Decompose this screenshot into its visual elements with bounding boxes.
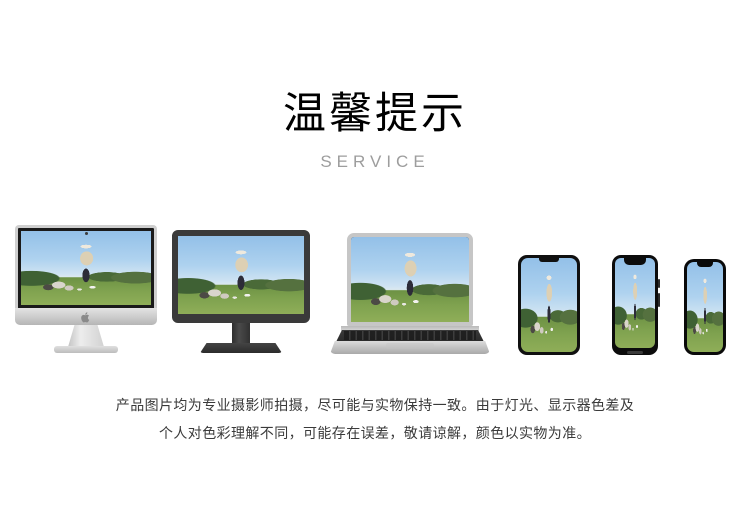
tablet-notch: [539, 258, 559, 262]
service-notice-page: 温馨提示 SERVICE: [0, 0, 750, 512]
phone-notch: [697, 262, 713, 267]
disclaimer-note: 产品图片均为专业摄影师拍摄，尽可能与实物保持一致。由于灯光、显示器色差及 个人对…: [0, 392, 750, 448]
monitor-screen: [172, 230, 310, 323]
camera-icon: [85, 232, 88, 235]
product-photo-wallpaper: [615, 258, 655, 348]
phone-volume-button: [658, 293, 660, 307]
tablet-body: [518, 255, 580, 355]
laptop-keyboard: [336, 330, 484, 342]
page-header: 温馨提示 SERVICE: [0, 88, 750, 172]
phone-home-indicator: [627, 351, 643, 354]
disclaimer-line-1: 产品图片均为专业摄影师拍摄，尽可能与实物保持一致。由于灯光、显示器色差及: [0, 392, 750, 420]
device-phone-rounded-notch: [684, 259, 726, 355]
monitor-stand-foot: [200, 343, 282, 353]
monitor-stand-neck: [232, 323, 250, 345]
laptop-screen: [347, 233, 473, 326]
device-tablet: [518, 255, 580, 355]
imac-chin: [15, 308, 157, 325]
product-photo-wallpaper: [351, 237, 469, 322]
phone-notch: [624, 258, 646, 265]
imac-stand-neck: [68, 325, 104, 347]
device-imac: [12, 225, 160, 355]
imac-screen: [15, 225, 157, 308]
product-photo-wallpaper: [21, 231, 151, 305]
device-phone-wide-notch: [612, 255, 658, 355]
phone-body: [684, 259, 726, 355]
device-monitor: [172, 230, 310, 355]
laptop-trackpad: [386, 343, 434, 349]
laptop-keys: [344, 331, 476, 340]
disclaimer-line-2: 个人对色彩理解不同，可能存在误差，敬请谅解，颜色以实物为准。: [0, 420, 750, 448]
imac-stand-foot: [54, 346, 118, 353]
device-laptop: [330, 233, 490, 355]
product-photo-wallpaper: [521, 258, 577, 352]
apple-logo-icon: [81, 312, 91, 323]
page-subtitle: SERVICE: [0, 152, 750, 172]
device-showcase: [0, 205, 750, 355]
phone-body: [612, 255, 658, 355]
page-title: 温馨提示: [0, 88, 750, 140]
product-photo-wallpaper: [178, 236, 304, 314]
product-photo-wallpaper: [687, 262, 723, 352]
phone-power-button: [658, 279, 660, 288]
laptop-base: [330, 341, 490, 354]
